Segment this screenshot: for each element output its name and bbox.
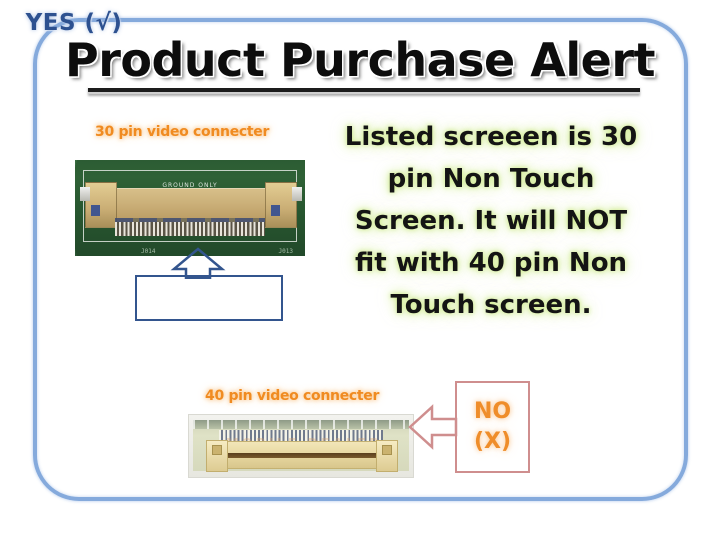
connector-slot	[222, 453, 382, 458]
title-underline	[88, 86, 640, 94]
latch-clip	[80, 187, 90, 201]
latch-tab	[382, 445, 392, 455]
alert-poster: Product Purchase Alert 30 pin video conn…	[0, 0, 720, 540]
connector-latch-left	[85, 182, 117, 228]
connector-latch-right	[265, 182, 297, 228]
page-title: Product Purchase Alert	[60, 34, 660, 86]
connector-latch-right	[376, 440, 398, 472]
caption-40-pin-connector: 40 pin video connecter	[205, 388, 379, 404]
latch-tab	[91, 205, 100, 216]
caption-30-pin-connector: 30 pin video connecter	[95, 124, 269, 140]
yes-callout-box	[135, 275, 283, 321]
photo-30-pin-connector: GROUND ONLY J014 J013	[75, 160, 305, 256]
connector-latch-left	[206, 440, 228, 472]
photo-40-pin-connector: MOBILE DEALER	[188, 414, 414, 478]
pcb-top-dots	[193, 420, 409, 429]
arrow-left-icon	[408, 403, 458, 451]
connector-pins	[115, 222, 265, 236]
connector-body	[207, 441, 397, 469]
latch-tab	[271, 205, 280, 216]
page-title-text: Product Purchase Alert	[60, 34, 660, 86]
latch-tab	[212, 445, 222, 455]
pcb-top-strip	[193, 420, 409, 429]
latch-clip	[292, 187, 302, 201]
alert-message: Listed screeen is 30 pin Non Touch Scree…	[336, 116, 646, 326]
no-callout-label: NO (X)	[455, 381, 530, 473]
no-callout-line1: NO	[474, 397, 511, 427]
connector-body	[103, 188, 277, 222]
no-callout-line2: (X)	[474, 427, 511, 457]
silkscreen-right-label: J013	[279, 248, 293, 255]
silkscreen-left-label: J014	[141, 248, 155, 255]
yes-callout-label: YES (√)	[0, 0, 148, 46]
